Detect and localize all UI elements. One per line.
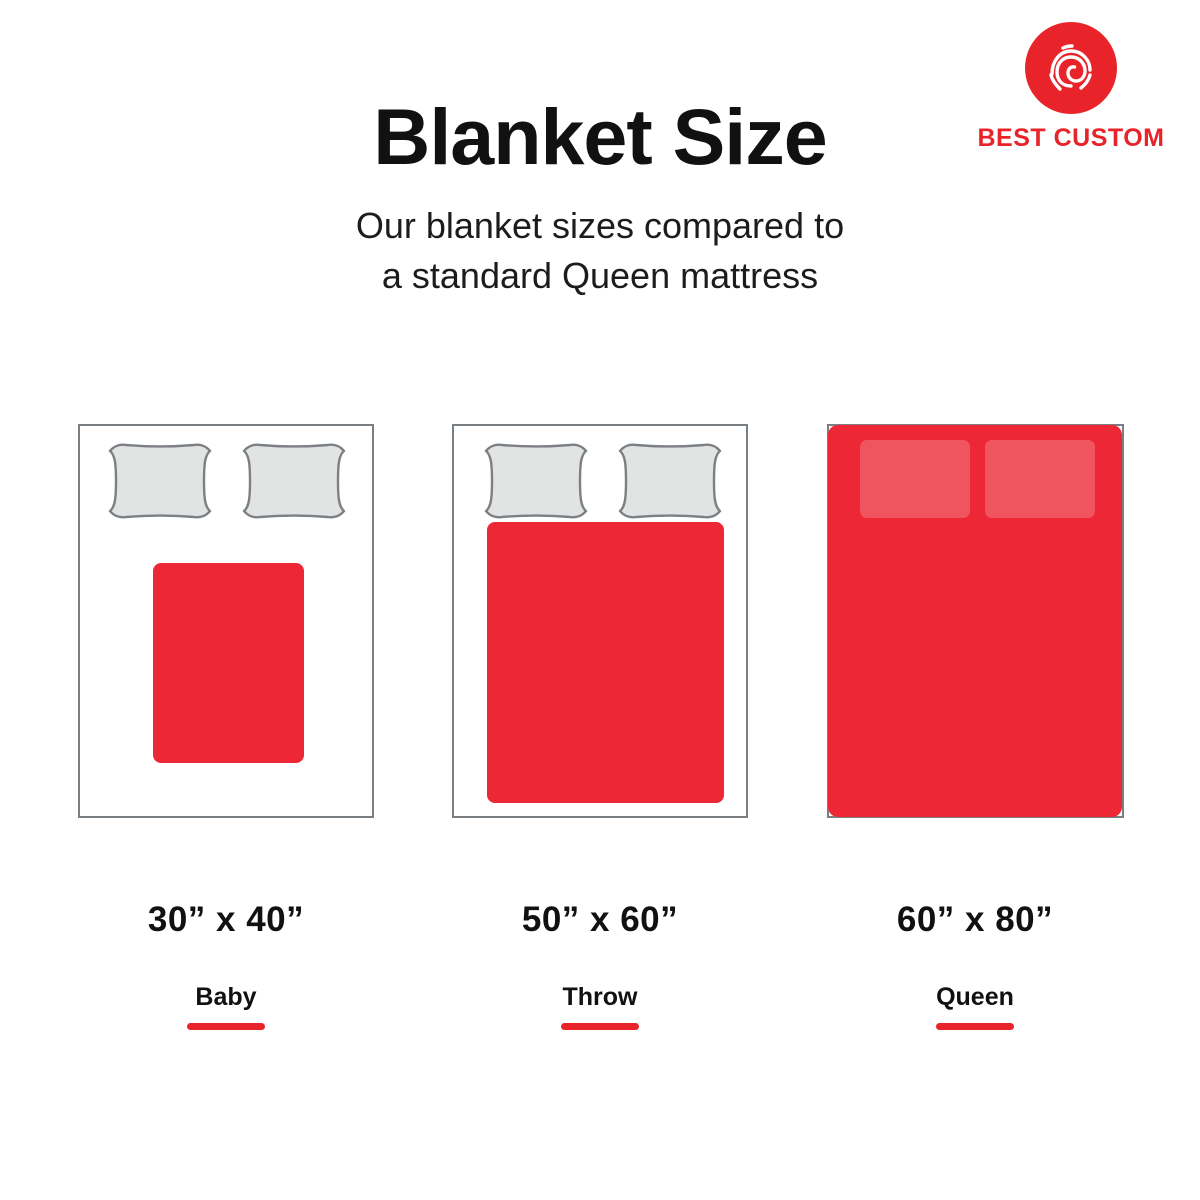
blanket-swatch-baby	[153, 563, 304, 763]
heading-block: Blanket Size Our blanket sizes compared …	[0, 96, 1200, 300]
page-subtitle: Our blanket sizes compared to a standard…	[0, 201, 1200, 300]
accent-underline	[187, 1023, 265, 1030]
subtitle-line-1: Our blanket sizes compared to	[0, 201, 1200, 251]
size-dimensions: 60” x 80”	[825, 900, 1125, 940]
accent-underline	[936, 1023, 1014, 1030]
bed-comparison-row	[0, 424, 1200, 824]
size-name: Queen	[825, 983, 1125, 1012]
blanket-swatch-throw	[487, 522, 724, 803]
pillow-left	[480, 442, 592, 520]
caption-throw: 50” x 60” Throw	[450, 900, 750, 1030]
pillow-right	[238, 442, 350, 520]
caption-row: 30” x 40” Baby 50” x 60” Throw 60” x 80”…	[0, 900, 1200, 1060]
bed-diagram-baby	[78, 424, 374, 818]
pillow-right-under-blanket	[985, 440, 1095, 518]
accent-underline	[561, 1023, 639, 1030]
caption-baby: 30” x 40” Baby	[76, 900, 376, 1030]
caption-queen: 60” x 80” Queen	[825, 900, 1125, 1030]
pillow-left	[104, 442, 216, 520]
size-name: Throw	[450, 983, 750, 1012]
size-name: Baby	[76, 983, 376, 1012]
pillow-left-under-blanket	[860, 440, 970, 518]
size-dimensions: 50” x 60”	[450, 900, 750, 940]
pillow-right	[614, 442, 726, 520]
size-dimensions: 30” x 40”	[76, 900, 376, 940]
subtitle-line-2: a standard Queen mattress	[0, 251, 1200, 301]
bed-diagram-queen	[827, 424, 1124, 818]
bed-diagram-throw	[452, 424, 748, 818]
page-title: Blanket Size	[0, 96, 1200, 179]
